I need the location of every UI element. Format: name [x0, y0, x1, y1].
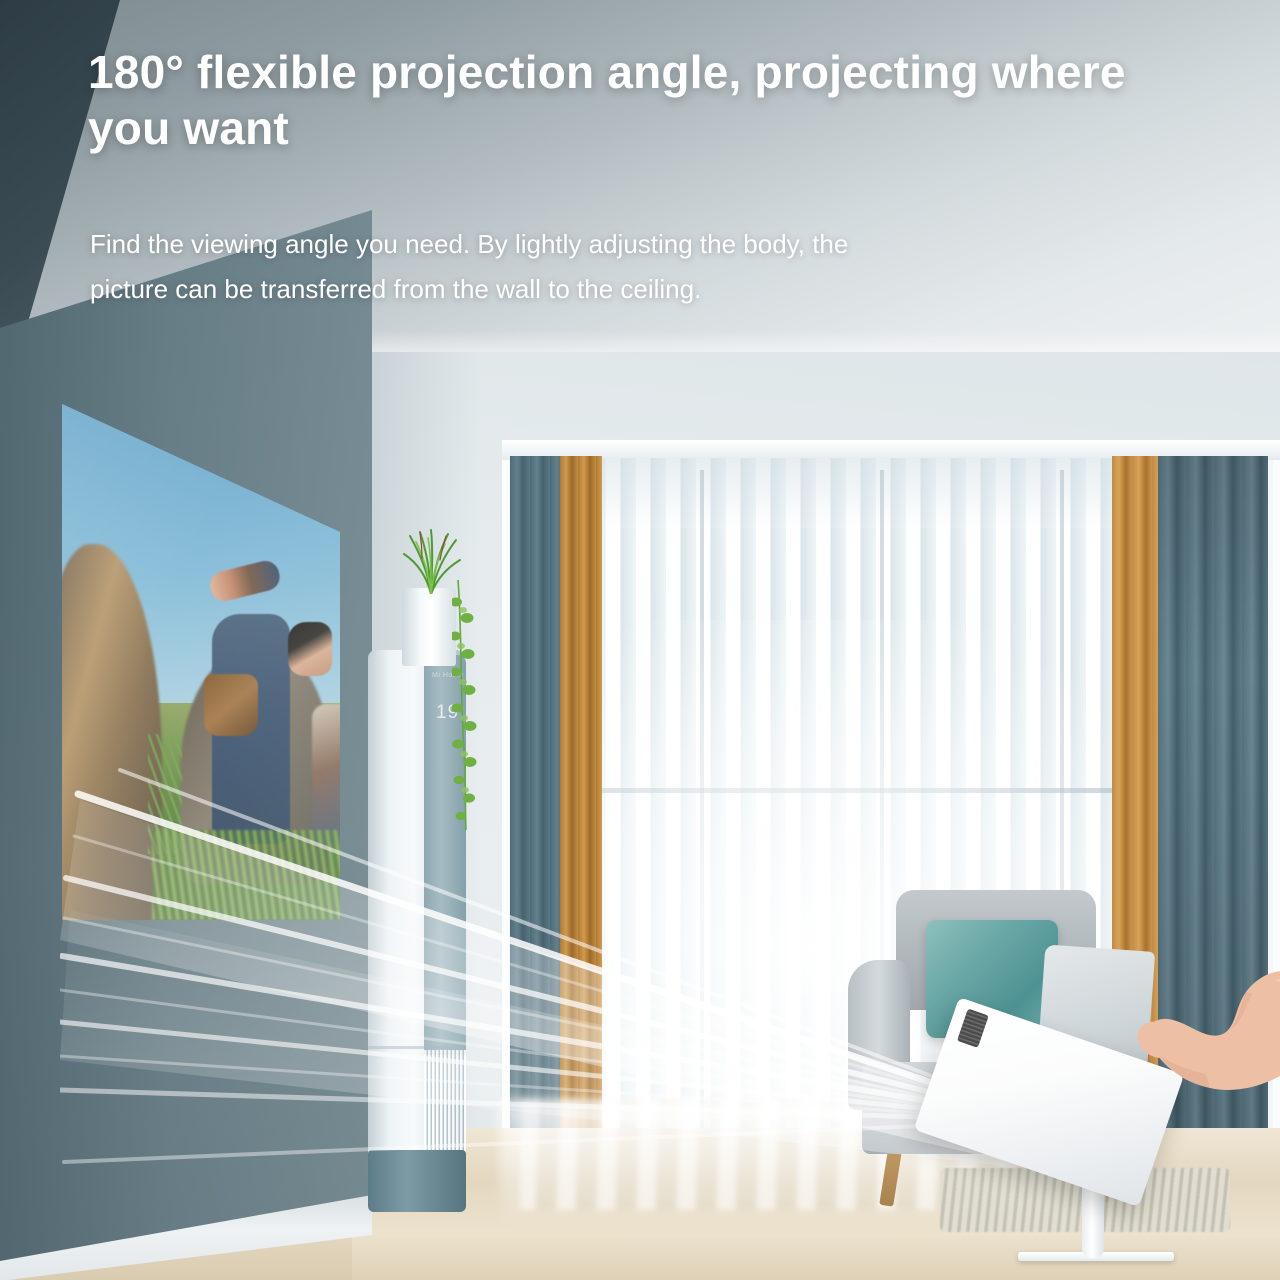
- air-purifier-seam: [368, 1046, 464, 1049]
- subtitle-line-2: picture can be transferred from the wall…: [90, 267, 1100, 312]
- product-feature-scene: Mi Home 19: [0, 0, 1280, 1280]
- trailing-vine-plant: [452, 580, 482, 830]
- projector-vent-icon: [957, 1009, 989, 1048]
- planter-pot: [402, 588, 456, 666]
- subtitle-line-1: Find the viewing angle you need. By ligh…: [90, 222, 1100, 267]
- hand-adjusting-projector: [1060, 962, 1280, 1112]
- air-purifier-grille: [424, 1050, 466, 1160]
- curtain-panel-left-accent: [560, 456, 602, 1156]
- air-purifier-base: [368, 1150, 466, 1212]
- sheer-curtain-heading: [576, 458, 1156, 528]
- page-subtitle: Find the viewing angle you need. By ligh…: [90, 222, 1100, 311]
- page-title: 180° flexible projection angle, projecti…: [88, 44, 1178, 156]
- curtain-panel-left-outer: [510, 456, 560, 1156]
